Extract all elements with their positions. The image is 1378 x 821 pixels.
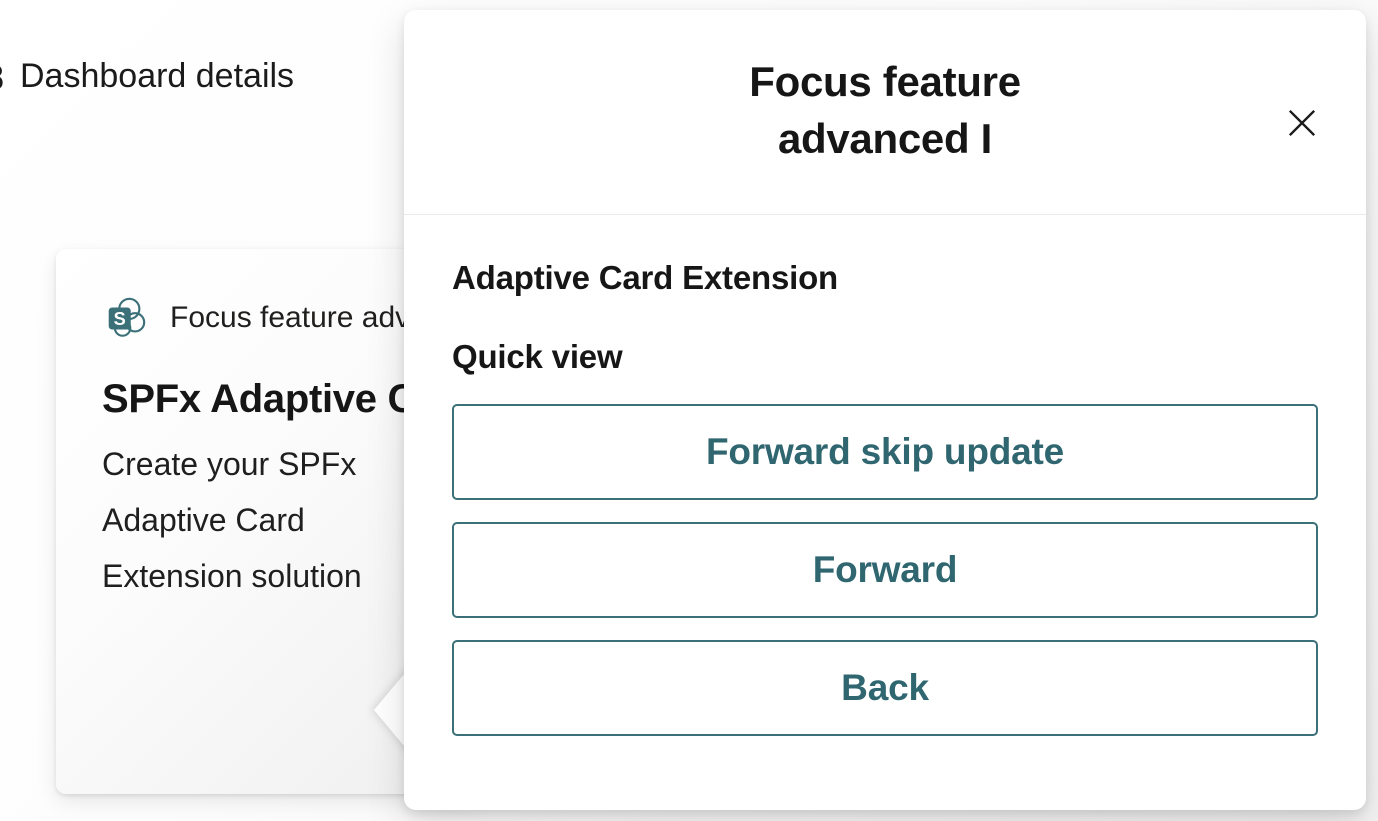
action-button-forward-skip-update[interactable]: Forward skip update xyxy=(452,404,1318,500)
quick-view-dialog: Focus feature advanced I Adaptive Card E… xyxy=(404,10,1366,810)
close-icon[interactable] xyxy=(1275,96,1329,150)
app-root: 8 Dashboard details S Focus feature adva… xyxy=(0,0,1378,821)
dialog-header: Focus feature advanced I xyxy=(404,10,1366,215)
sharepoint-icon: S xyxy=(102,295,148,341)
section-subtitle-quick-view: Quick view xyxy=(452,338,1318,376)
dialog-title: Focus feature advanced I xyxy=(605,54,1165,167)
dashboard-glyph-icon: 8 xyxy=(0,59,2,95)
dialog-action-list: Forward skip update Forward Back xyxy=(452,404,1318,736)
action-button-back[interactable]: Back xyxy=(452,640,1318,736)
svg-text:S: S xyxy=(114,309,126,329)
section-title-adaptive-card-extension: Adaptive Card Extension xyxy=(452,259,1318,297)
action-button-forward[interactable]: Forward xyxy=(452,522,1318,618)
page-title: Dashboard details xyxy=(20,58,294,95)
breadcrumb: 8 Dashboard details xyxy=(0,58,294,95)
dialog-body: Adaptive Card Extension Quick view Forwa… xyxy=(404,215,1366,736)
